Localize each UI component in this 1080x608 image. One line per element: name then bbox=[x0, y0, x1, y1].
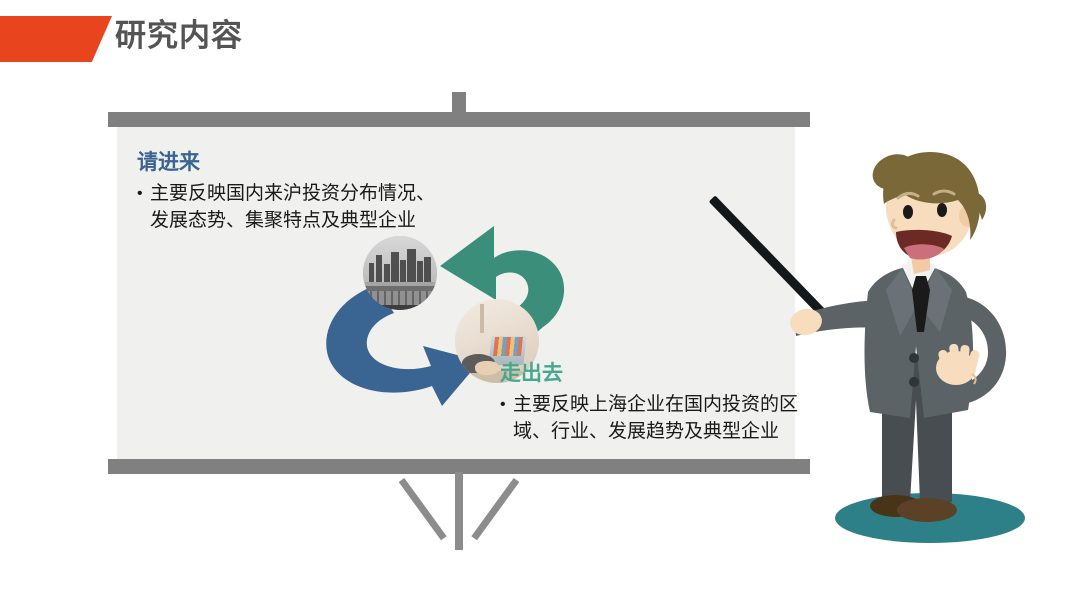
desk-laptop-screen bbox=[493, 337, 523, 356]
bullet-marker: • bbox=[137, 180, 150, 234]
section-bring-in-heading: 请进来 bbox=[137, 150, 437, 176]
tripod-leg-right bbox=[471, 478, 519, 540]
cityscape-photo bbox=[363, 236, 437, 310]
eye-right bbox=[937, 203, 947, 217]
jacket-button bbox=[909, 377, 919, 387]
tripod-leg-left bbox=[399, 478, 447, 540]
desk-person-hand bbox=[475, 361, 499, 374]
section-go-out-bullet-text: 主要反映上海企业在国内投资的区域、行业、发展趋势及典型企业 bbox=[513, 391, 805, 445]
cityscape-building bbox=[417, 261, 423, 282]
section-bring-in-bullet-text: 主要反映国内来沪投资分布情况、发展态势、集聚特点及典型企业 bbox=[150, 180, 437, 234]
slide-root: 研究内容 bbox=[0, 0, 1080, 608]
desk-lamp-stem bbox=[480, 304, 484, 333]
section-bring-in-bullet: • 主要反映国内来沪投资分布情况、发展态势、集聚特点及典型企业 bbox=[137, 180, 437, 234]
cityscape-building bbox=[391, 252, 398, 282]
board-top-tab bbox=[452, 92, 466, 112]
section-bring-in: 请进来 • 主要反映国内来沪投资分布情况、发展态势、集聚特点及典型企业 bbox=[137, 150, 437, 234]
tongue bbox=[904, 244, 944, 259]
cityscape-building bbox=[424, 257, 431, 282]
jacket-button bbox=[909, 353, 919, 363]
section-go-out-bullet: • 主要反映上海企业在国内投资的区域、行业、发展趋势及典型企业 bbox=[500, 391, 805, 445]
cityscape-bridge-truss bbox=[363, 291, 437, 306]
cityscape-building bbox=[407, 249, 415, 282]
board-top-bar bbox=[108, 112, 810, 127]
cityscape-building bbox=[376, 255, 383, 282]
section-go-out-heading: 走出去 bbox=[500, 361, 805, 387]
cityscape-building bbox=[400, 260, 406, 282]
bullet-marker: • bbox=[500, 391, 513, 445]
eye-left bbox=[903, 205, 913, 219]
cityscape-building bbox=[384, 264, 390, 282]
shoe-front bbox=[897, 498, 957, 522]
tripod-center-post bbox=[455, 472, 463, 550]
section-go-out: 走出去 • 主要反映上海企业在国内投资的区域、行业、发展趋势及典型企业 bbox=[500, 361, 805, 445]
presenter-illustration bbox=[790, 150, 1080, 570]
cityscape-building bbox=[369, 263, 374, 282]
cityscape-water bbox=[363, 305, 437, 310]
